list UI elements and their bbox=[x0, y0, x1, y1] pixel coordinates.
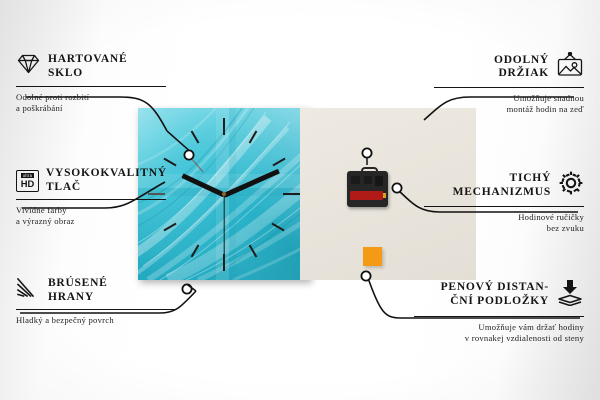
clock-second-hand bbox=[223, 195, 224, 257]
feature-description: Odolné proti rozbití a poškrábání bbox=[16, 92, 166, 113]
feature-description: Umožňuje vám držať hodiny v rovnakej vzd… bbox=[414, 322, 584, 343]
divider bbox=[16, 199, 166, 200]
feature-title: HARTOVANÉ SKLO bbox=[48, 53, 127, 80]
feature-foam-pads: PENOVÝ DISTAN- ČNÍ PODLOŽKY Umožňuje vám… bbox=[414, 278, 584, 343]
feature-ground-edges: BRÚSENÉ HRANY Hladký a bezpečný povrch bbox=[16, 277, 176, 326]
divider bbox=[16, 86, 166, 87]
clock-center-pivot bbox=[222, 192, 226, 196]
feature-title: PENOVÝ DISTAN- ČNÍ PODLOŽKY bbox=[441, 281, 549, 308]
ultra-hd-badge-icon: ultra HD bbox=[16, 170, 39, 192]
clock-mechanism bbox=[347, 167, 388, 207]
divider bbox=[414, 316, 584, 317]
foam-pad-icon bbox=[556, 278, 584, 311]
feature-description: Umožňuje snadnou montáž hodin na zeď bbox=[434, 93, 584, 114]
feature-title: VYSOKOKVALITNÝ TLAČ bbox=[46, 167, 167, 194]
product-infographic: HARTOVANÉ SKLO Odolné proti rozbití a po… bbox=[0, 0, 600, 400]
mechanism-detail-left bbox=[351, 176, 360, 184]
hd-label: HD bbox=[21, 179, 35, 188]
mechanism-detail-mid bbox=[364, 176, 372, 184]
feature-title: ODOLNÝ DRŽIAK bbox=[494, 54, 549, 81]
ground-edges-icon bbox=[16, 277, 41, 304]
feature-description: Vivídne farby a výrazný obraz bbox=[16, 205, 166, 226]
feature-description: Hladký a bezpečný povrch bbox=[16, 315, 176, 326]
picture-hanger-icon bbox=[556, 52, 584, 82]
feature-tempered-glass: HARTOVANÉ SKLO Odolné proti rozbití a po… bbox=[16, 52, 166, 113]
mechanism-battery bbox=[350, 191, 383, 200]
feature-hd-print: ultra HD VYSOKOKVALITNÝ TLAČ Vivídne far… bbox=[16, 167, 166, 226]
feature-description: Hodinové ručičky bez zvuku bbox=[424, 212, 584, 233]
gear-icon bbox=[558, 170, 584, 201]
feature-silent-mechanism: TICHÝ MECHANIZMUS Hodinové ručičky bez z… bbox=[424, 170, 584, 233]
mechanism-detail-right bbox=[375, 176, 383, 186]
diamond-icon bbox=[16, 52, 41, 81]
divider bbox=[16, 309, 176, 310]
feature-title: BRÚSENÉ HRANY bbox=[48, 277, 108, 304]
foam-distance-pad bbox=[363, 247, 382, 266]
feature-title: TICHÝ MECHANIZMUS bbox=[453, 172, 551, 199]
feature-durable-hanger: ODOLNÝ DRŽIAK Umožňuje snadnou montáž h bbox=[434, 52, 584, 114]
divider bbox=[434, 87, 584, 88]
divider bbox=[424, 206, 584, 207]
